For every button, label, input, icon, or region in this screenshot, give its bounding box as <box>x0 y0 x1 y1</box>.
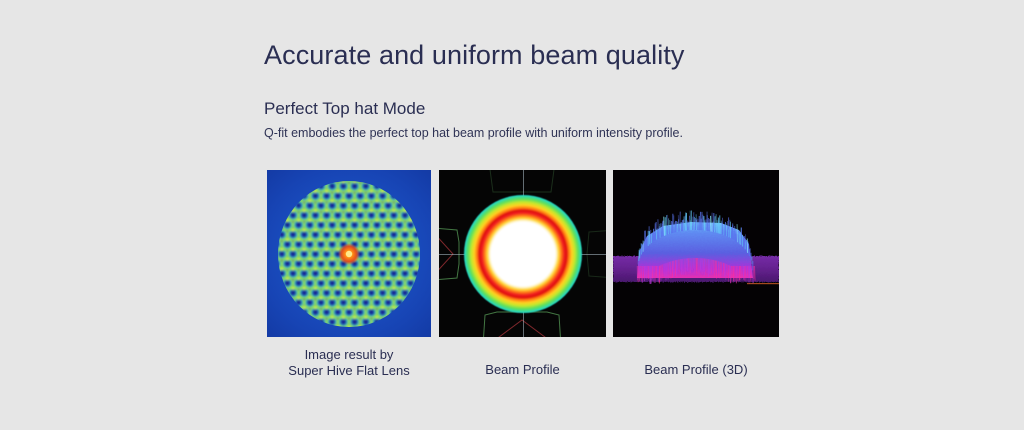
caption-hex-lattice: Image result by Super Hive Flat Lens <box>267 347 431 379</box>
section-subtitle: Perfect Top hat Mode <box>264 99 425 119</box>
tophat-surface-graphic <box>613 170 779 337</box>
hex-lattice-image <box>267 170 431 337</box>
caption-beam-profile-3d: Beam Profile (3D) <box>613 362 779 378</box>
beam-quality-slide: Accurate and uniform beam quality Perfec… <box>0 0 1024 430</box>
caption-beam-profile: Beam Profile <box>439 362 606 378</box>
beam-profile-2d-image <box>439 170 606 337</box>
caption-line-1: Beam Profile <box>439 362 606 378</box>
page-title: Accurate and uniform beam quality <box>264 40 685 71</box>
caption-line-2: Super Hive Flat Lens <box>267 363 431 379</box>
section-description: Q-fit embodies the perfect top hat beam … <box>264 126 683 140</box>
lattice-pattern-graphic <box>267 170 431 337</box>
caption-line-1: Beam Profile (3D) <box>613 362 779 378</box>
beam-spot <box>464 195 582 313</box>
caption-line-1: Image result by <box>267 347 431 363</box>
beam-profile-3d-image <box>613 170 779 337</box>
